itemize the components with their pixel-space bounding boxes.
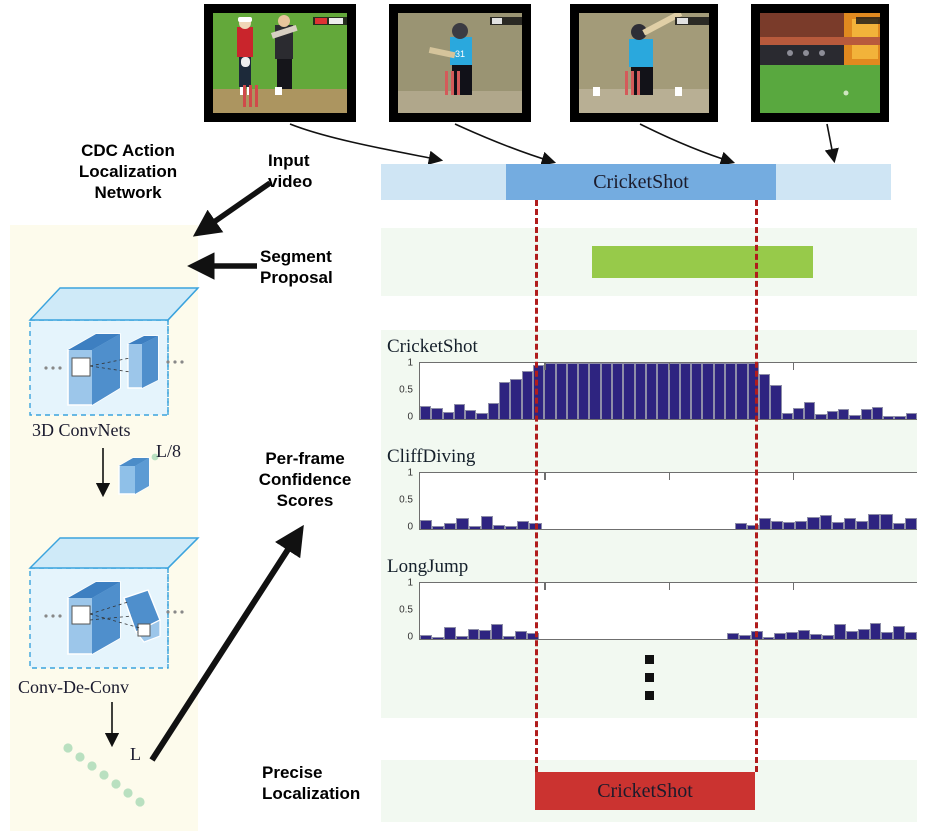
chart-cricketshot-yaxis: 1 0.5 0 [381, 362, 417, 418]
bar [612, 363, 623, 419]
bar [759, 374, 770, 419]
bar [578, 363, 589, 419]
bar [815, 414, 826, 419]
axis-tick [793, 473, 794, 480]
ground-truth-segment-label: CricketShot [593, 171, 689, 194]
bar [782, 413, 793, 419]
segment-proposal-arrow [185, 258, 265, 278]
bar [822, 635, 834, 639]
bar [505, 526, 517, 529]
bar [499, 382, 510, 419]
bar [714, 363, 725, 419]
callout-per-frame-confidence: Per-frame Confidence Scores [245, 448, 365, 511]
arrow-frame-4 [827, 124, 834, 160]
bar [691, 363, 702, 419]
bar [771, 521, 783, 529]
bar [635, 363, 646, 419]
bar [481, 516, 493, 529]
thumbnail-frame-4-image [760, 13, 880, 113]
bar [881, 632, 893, 639]
ytick-0: 0 [407, 522, 413, 533]
chart-longjump-yaxis: 1 0.5 0 [381, 582, 417, 638]
bar [832, 522, 844, 529]
bar [872, 407, 883, 419]
bar [443, 412, 454, 419]
ytick-05: 0.5 [399, 605, 413, 616]
bar [556, 363, 567, 419]
bar [420, 635, 432, 639]
bar [804, 402, 815, 419]
bar [893, 626, 905, 639]
bar [770, 385, 781, 419]
axis-tick [544, 363, 545, 370]
bar [432, 526, 444, 529]
axis-tick [669, 363, 670, 370]
more-classes-ellipsis-icon [645, 655, 654, 709]
bar [846, 631, 858, 639]
callout-precise-localization: Precise Localization [262, 762, 360, 804]
ytick-0: 0 [407, 412, 413, 423]
bar [735, 523, 747, 529]
length-eighth-label: L/8 [156, 441, 181, 462]
bar [454, 404, 465, 419]
segment-proposal-bar[interactable] [592, 246, 813, 278]
chart-cricketshot-plot [419, 362, 917, 420]
bar [479, 630, 491, 639]
ground-truth-segment[interactable]: CricketShot [506, 164, 776, 200]
thumbnail-frame-3 [570, 4, 718, 122]
bar [680, 363, 691, 419]
bar [793, 408, 804, 419]
input-video-arrow [175, 175, 285, 245]
bar [431, 408, 442, 419]
arrow-frame-1 [290, 124, 440, 160]
bar [465, 410, 476, 419]
ytick-1: 1 [407, 578, 413, 589]
bar [849, 415, 860, 419]
bar [870, 623, 882, 639]
bar [795, 521, 807, 529]
bar [838, 409, 849, 419]
chart-cliffdiving: CliffDiving 1 0.5 0 [381, 446, 917, 528]
thumbnail-frame-3-image [579, 13, 709, 113]
bar [893, 523, 905, 529]
bar [589, 363, 600, 419]
bar [646, 363, 657, 419]
bar [510, 379, 521, 419]
thumbnail-frame-1 [204, 4, 356, 122]
chart-cricketshot-title: CricketShot [387, 336, 917, 358]
chart-cliffdiving-plot [419, 472, 917, 530]
bar [544, 363, 555, 419]
chart-cliffdiving-area: 1 0.5 0 [381, 472, 917, 528]
bar [444, 627, 456, 639]
bar [517, 521, 529, 529]
bar [868, 514, 880, 529]
chart-cricketshot-area: 1 0.5 0 [381, 362, 917, 418]
bar [515, 631, 527, 639]
arrow-frame-3 [640, 124, 732, 162]
axis-tick [544, 583, 545, 590]
bar [763, 637, 775, 639]
chart-longjump: LongJump 1 0.5 0 [381, 556, 917, 638]
chart-longjump-plot [419, 582, 917, 640]
bar [522, 371, 533, 419]
bar [834, 624, 846, 639]
thumbnail-frame-2-image: 31 [398, 13, 522, 113]
bar [444, 523, 456, 529]
bar [905, 632, 917, 639]
guide-line-start [535, 200, 538, 772]
bar [807, 517, 819, 529]
bar [894, 416, 905, 419]
axis-tick [669, 473, 670, 480]
bar [601, 363, 612, 419]
bar [736, 363, 747, 419]
guide-line-end [755, 200, 758, 772]
thumbnail-frame-2: 31 [389, 4, 531, 122]
thumbnail-frame-1-image [213, 13, 347, 113]
bar [420, 520, 432, 529]
thumbnail-frame-4 [751, 4, 889, 122]
bar [856, 521, 868, 529]
conv3d-cube-icon [20, 240, 198, 420]
conv-de-conv-label: Conv-De-Conv [18, 677, 129, 698]
precise-localization-label: CricketShot [597, 780, 693, 803]
ytick-1: 1 [407, 358, 413, 369]
bar [488, 403, 499, 419]
bar [493, 525, 505, 529]
bar [702, 363, 713, 419]
bar [774, 633, 786, 639]
bar [844, 518, 856, 529]
bar [783, 522, 795, 529]
bar [906, 413, 917, 419]
bar [861, 409, 872, 419]
bar [810, 634, 822, 639]
page-title-line-1: CDC Action [38, 140, 218, 161]
bar [476, 413, 487, 419]
bar [456, 636, 468, 639]
bar [858, 629, 870, 639]
ytick-05: 0.5 [399, 495, 413, 506]
chart-longjump-area: 1 0.5 0 [381, 582, 917, 638]
bar [798, 630, 810, 639]
bar [727, 633, 739, 639]
ytick-0: 0 [407, 632, 413, 643]
bar [491, 624, 503, 639]
bar [827, 411, 838, 419]
confidence-scores-arrow [140, 520, 320, 770]
bar [469, 526, 481, 529]
bar [739, 635, 751, 639]
axis-tick [669, 583, 670, 590]
bar [905, 518, 917, 529]
chart-cliffdiving-yaxis: 1 0.5 0 [381, 472, 417, 528]
arrow-frame-2 [455, 124, 553, 162]
bar [880, 514, 892, 529]
bar [657, 363, 668, 419]
bar [456, 518, 468, 529]
conv3d-label: 3D ConvNets [32, 420, 131, 441]
bar [759, 518, 771, 529]
svg-text:31: 31 [455, 49, 465, 59]
bar [820, 515, 832, 529]
bar [725, 363, 736, 419]
bar [432, 637, 444, 639]
bar [420, 406, 431, 419]
chart-longjump-title: LongJump [387, 556, 917, 578]
bar [883, 416, 894, 419]
callout-segment-proposal: Segment Proposal [260, 246, 333, 288]
axis-tick [793, 583, 794, 590]
chart-cricketshot: CricketShot 1 0.5 0 [381, 336, 917, 418]
chart-cliffdiving-title: CliffDiving [387, 446, 917, 468]
precise-localization-bar[interactable]: CricketShot [535, 772, 755, 810]
bar [503, 636, 515, 639]
ytick-05: 0.5 [399, 385, 413, 396]
bar [623, 363, 634, 419]
bar [669, 363, 680, 419]
ytick-1: 1 [407, 468, 413, 479]
axis-tick [544, 473, 545, 480]
bar [786, 632, 798, 639]
bar [567, 363, 578, 419]
axis-tick [793, 363, 794, 370]
bar [468, 629, 480, 639]
